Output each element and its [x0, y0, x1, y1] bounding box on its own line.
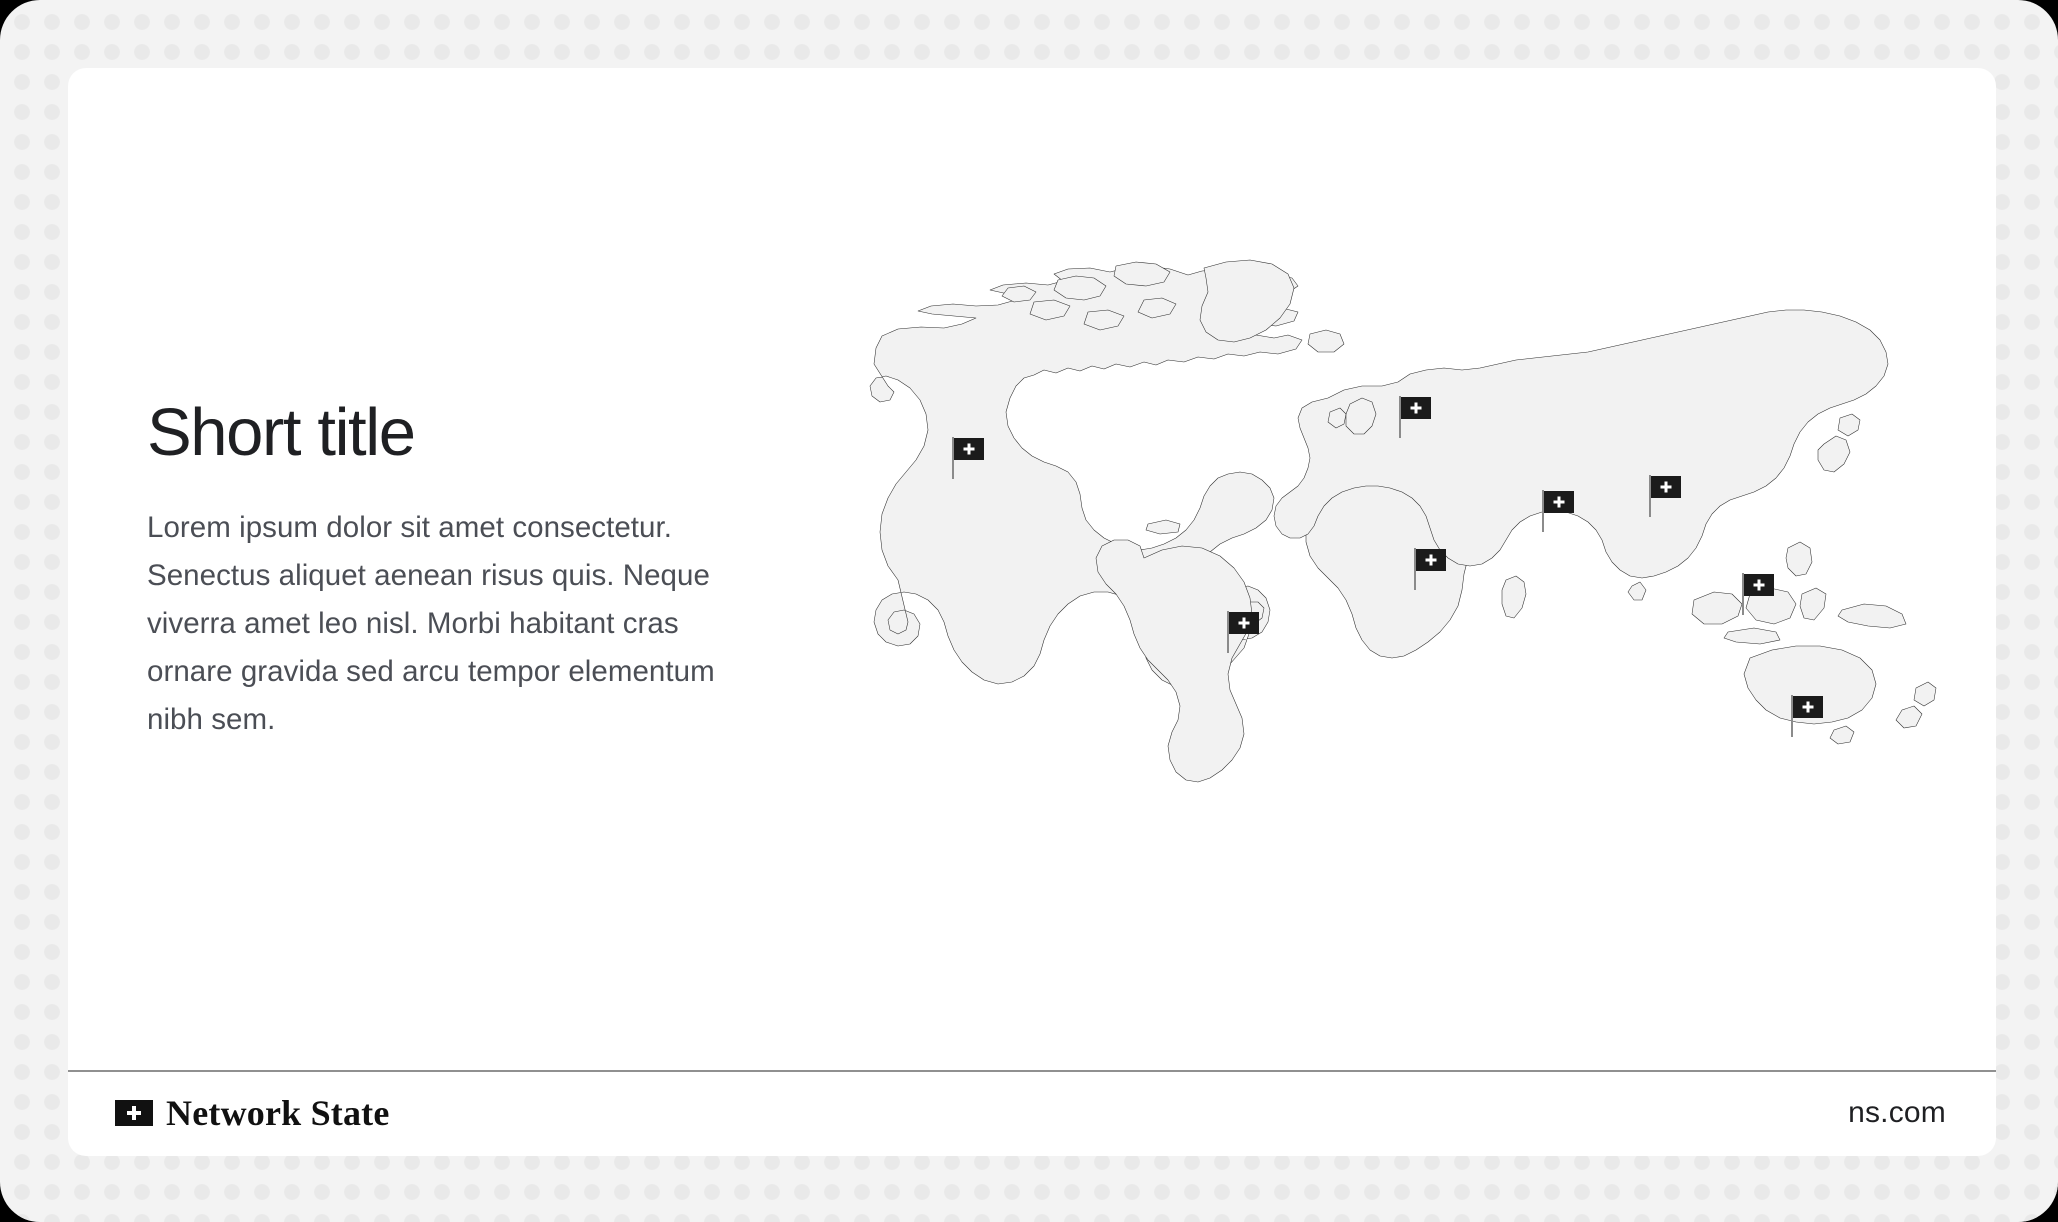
- flag-plus-pin-icon: [1401, 397, 1431, 419]
- landmass-new-zealand-north: [1914, 682, 1936, 706]
- map-pin-northern-europe[interactable]: [1399, 396, 1431, 438]
- map-pin-middle-east[interactable]: [1542, 490, 1574, 532]
- landmass-caribbean: [1146, 520, 1180, 534]
- slide-page: Short title Lorem ipsum dolor sit amet c…: [0, 0, 2058, 1222]
- landmass-south-america: [1096, 540, 1252, 782]
- body-paragraph: Lorem ipsum dolor sit amet consectetur. …: [147, 504, 772, 744]
- map-pin-north-america[interactable]: [952, 437, 984, 479]
- landmass-sri-lanka: [1628, 582, 1646, 600]
- landmass-iceland: [1308, 330, 1344, 352]
- flag-plus-pin-icon: [1229, 612, 1259, 634]
- world-map-panel: [858, 228, 1958, 808]
- map-pin-australia[interactable]: [1791, 695, 1823, 737]
- flag-plus-logo-icon: [115, 1100, 153, 1126]
- text-column: Short title Lorem ipsum dolor sit amet c…: [147, 398, 787, 744]
- landmass-greenland: [1200, 260, 1294, 342]
- slide-footer: Network State ns.com: [68, 1070, 1996, 1156]
- landmass-new-guinea: [1838, 604, 1906, 628]
- flag-plus-pin-icon: [1744, 574, 1774, 596]
- map-pin-southeast-asia[interactable]: [1742, 573, 1774, 615]
- landmass-japan-north: [1838, 414, 1860, 436]
- flag-plus-pin-icon: [1544, 491, 1574, 513]
- flag-plus-pin-icon: [1793, 696, 1823, 718]
- flag-plus-pin-icon: [954, 438, 984, 460]
- landmass-new-zealand-south: [1896, 706, 1922, 728]
- slide-card: Short title Lorem ipsum dolor sit amet c…: [68, 68, 1996, 1156]
- page-title: Short title: [147, 398, 787, 468]
- landmass-java: [1724, 628, 1780, 644]
- flag-plus-pin-icon: [1416, 549, 1446, 571]
- landmass-madagascar: [1502, 576, 1526, 618]
- brand-name: Network State: [166, 1092, 390, 1134]
- map-pin-south-asia[interactable]: [1649, 475, 1681, 517]
- map-pin-west-africa[interactable]: [1414, 548, 1446, 590]
- map-pin-south-america[interactable]: [1227, 611, 1259, 653]
- flag-plus-pin-icon: [1651, 476, 1681, 498]
- footer-url: ns.com: [1848, 1096, 1946, 1130]
- landmass-tasmania: [1830, 726, 1854, 744]
- landmass-sulawesi: [1800, 588, 1826, 620]
- brand-lockup[interactable]: Network State: [115, 1092, 390, 1134]
- landmass-sumatra: [1692, 592, 1742, 624]
- landmass-philippines: [1786, 542, 1812, 576]
- landmass-japan: [1818, 436, 1850, 472]
